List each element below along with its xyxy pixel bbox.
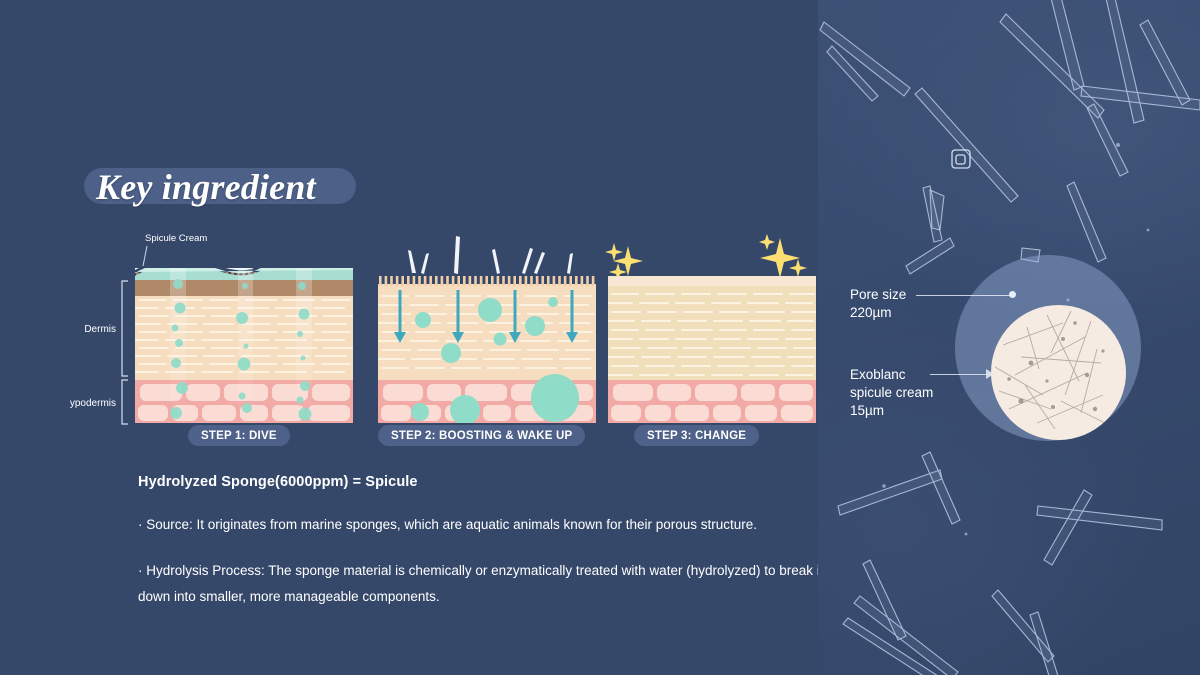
- pore-size-annotation: Pore size 220µm: [850, 286, 906, 322]
- product-leader-arrow: [986, 369, 994, 379]
- product-leader-line: [930, 374, 992, 375]
- step-2-diagram: [370, 228, 600, 448]
- product-label: Exoblanc: [850, 366, 933, 384]
- left-content-panel: Key ingredient Spicule Cream: [0, 0, 818, 675]
- step-badge-group: STEP 1: DIVE STEP 2: BOOSTING & WAKE UP …: [70, 425, 830, 447]
- hypodermis-label: Hypodermis: [70, 398, 116, 409]
- copy-bullet-hydrolysis: · Hydrolysis Process: The sponge materia…: [138, 558, 828, 610]
- pore-size-leader-dot: [1009, 291, 1016, 298]
- title-text: Key ingredient: [84, 160, 316, 214]
- pore-size-leader-line: [916, 295, 1014, 296]
- step-3-badge: STEP 3: CHANGE: [634, 425, 759, 446]
- pore-size-label: Pore size: [850, 286, 906, 304]
- step-1-badge: STEP 1: DIVE: [188, 425, 290, 446]
- copy-bullet-source: · Source: It originates from marine spon…: [138, 512, 828, 538]
- product-annotation: Exoblanc spicule cream 15µm: [850, 366, 933, 420]
- spicule-cream-label: Spicule Cream: [145, 233, 207, 244]
- copy-heading: Hydrolyzed Sponge(6000ppm) = Spicule: [138, 474, 828, 490]
- page-title: Key ingredient: [84, 160, 316, 214]
- pore-size-value: 220µm: [850, 304, 906, 322]
- slide-canvas: Key ingredient Spicule Cream: [0, 0, 1200, 675]
- step-1-diagram: Spicule Cream: [70, 228, 360, 448]
- product-value: 15µm: [850, 402, 933, 420]
- spicule-needles: [408, 236, 573, 274]
- sparkle-icon: [605, 234, 807, 281]
- product-label-2: spicule cream: [850, 384, 933, 402]
- step-2-badge: STEP 2: BOOSTING & WAKE UP: [378, 425, 585, 446]
- microscope-inset-image: [991, 305, 1126, 440]
- dermis-label: Dermis: [84, 324, 116, 335]
- body-copy: Hydrolyzed Sponge(6000ppm) = Spicule · S…: [138, 474, 828, 610]
- step-3-diagram: [600, 228, 830, 448]
- skin-diagram-group: Spicule Cream: [70, 228, 830, 453]
